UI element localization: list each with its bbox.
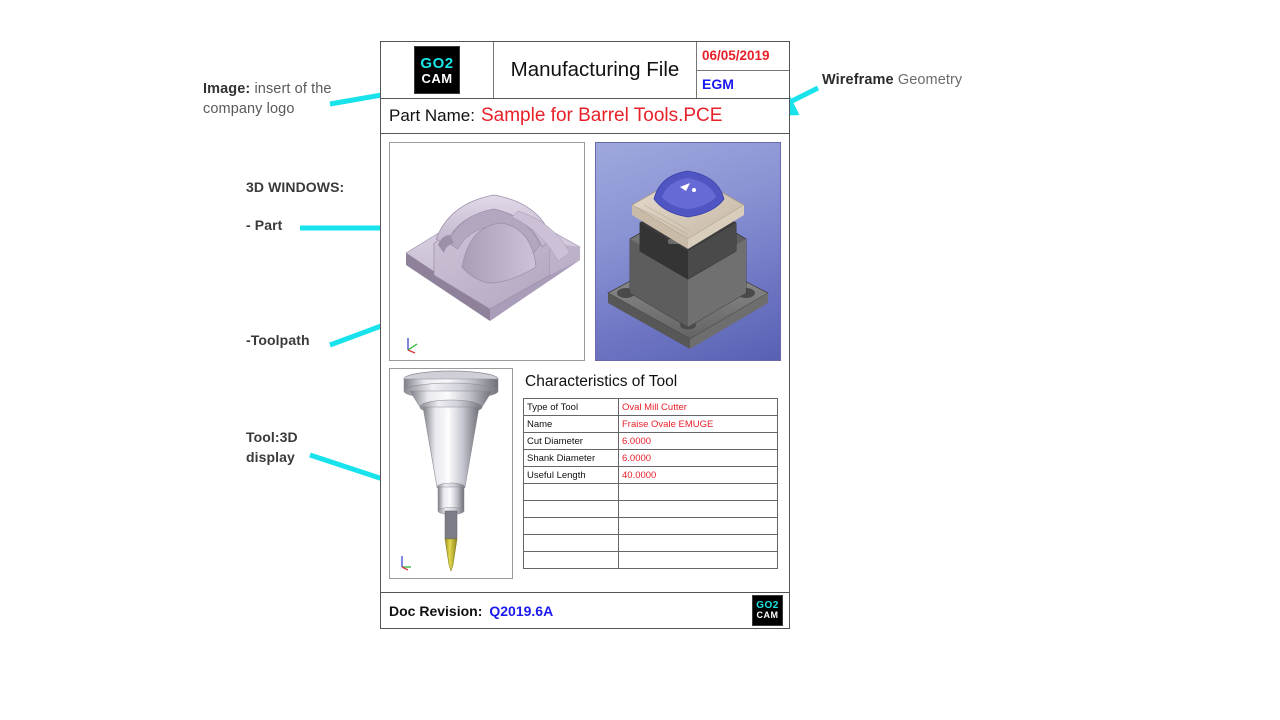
part-name-value: Sample for Barrel Tools.PCE — [481, 105, 722, 127]
annotation-tool-display: Tool:3D display — [246, 427, 356, 468]
row-key — [524, 535, 619, 552]
part-name-label: Part Name: — [389, 106, 475, 126]
views-row — [389, 142, 781, 361]
row-key: Name — [524, 416, 619, 433]
annotation-wireframe-rest: Geometry — [894, 72, 963, 88]
tool-characteristics-title: Characteristics of Tool — [525, 373, 781, 391]
row-value: Oval Mill Cutter — [619, 399, 778, 416]
row-key — [524, 552, 619, 569]
tool-characteristics-table: Type of ToolOval Mill Cutter NameFraise … — [523, 398, 778, 569]
tool-geometry — [390, 369, 512, 578]
row-value — [619, 501, 778, 518]
annotation-wireframe: Wireframe Geometry — [822, 71, 962, 91]
logo-line-go2: GO2 — [420, 56, 453, 71]
table-row — [524, 501, 778, 518]
tool-row: Characteristics of Tool Type of ToolOval… — [389, 368, 781, 579]
annotation-wireframe-bold: Wireframe — [822, 72, 894, 88]
row-value — [619, 518, 778, 535]
row-key: Cut Diameter — [524, 433, 619, 450]
annotation-part: - Part — [246, 216, 282, 235]
row-key: Type of Tool — [524, 399, 619, 416]
header-title-cell: Manufacturing File — [494, 42, 697, 98]
axis-triad-icon — [402, 556, 411, 570]
document-footer: Doc Revision: Q2019.6A GO2 CAM — [381, 592, 789, 628]
tool-characteristics-body: Type of ToolOval Mill Cutter NameFraise … — [524, 399, 778, 569]
manufacturing-file-document: GO2 CAM Manufacturing File 06/05/2019 EG… — [380, 41, 790, 629]
go2cam-logo-footer: GO2 CAM — [752, 595, 783, 626]
annotation-tool-display-line2: display — [246, 449, 295, 465]
row-key — [524, 501, 619, 518]
header-logo-cell: GO2 CAM — [381, 42, 494, 98]
annotation-toolpath: -Toolpath — [246, 331, 310, 350]
table-row — [524, 552, 778, 569]
table-row: Useful Length40.0000 — [524, 467, 778, 484]
row-value — [619, 552, 778, 569]
row-key — [524, 518, 619, 535]
row-key: Shank Diameter — [524, 450, 619, 467]
3d-setup-toolpath-view[interactable] — [595, 142, 781, 361]
part-name-row: Part Name: Sample for Barrel Tools.PCE — [381, 99, 789, 134]
axis-triad-icon — [408, 338, 417, 353]
table-row: Cut Diameter6.0000 — [524, 433, 778, 450]
table-row: NameFraise Ovale EMUGE — [524, 416, 778, 433]
3d-tool-view[interactable] — [389, 368, 513, 579]
table-row: Shank Diameter6.0000 — [524, 450, 778, 467]
row-value — [619, 535, 778, 552]
row-key — [524, 484, 619, 501]
part-geometry — [390, 143, 584, 360]
header-meta-cell: 06/05/2019 EGM — [697, 42, 789, 98]
document-author: EGM — [697, 71, 789, 99]
arrow-wireframe — [788, 88, 818, 103]
annotation-image-logo: Image: insert of the company logo — [203, 80, 373, 119]
annotation-tool-display-line1: Tool:3D — [246, 429, 298, 445]
row-value: 40.0000 — [619, 467, 778, 484]
document-title: Manufacturing File — [511, 58, 680, 82]
row-value: 6.0000 — [619, 450, 778, 467]
logo-line-cam: CAM — [421, 72, 452, 85]
table-row — [524, 535, 778, 552]
table-row: Type of ToolOval Mill Cutter — [524, 399, 778, 416]
3d-part-view[interactable] — [389, 142, 585, 361]
doc-revision-label: Doc Revision: — [389, 603, 482, 619]
document-body: Characteristics of Tool Type of ToolOval… — [381, 134, 789, 587]
row-value: Fraise Ovale EMUGE — [619, 416, 778, 433]
row-value: 6.0000 — [619, 433, 778, 450]
row-key: Useful Length — [524, 467, 619, 484]
annotation-3d-windows-heading: 3D WINDOWS: — [246, 178, 344, 197]
doc-revision-value: Q2019.6A — [489, 603, 553, 619]
go2cam-logo: GO2 CAM — [414, 46, 460, 94]
table-row — [524, 518, 778, 535]
page-canvas: Image: insert of the company logo Wirefr… — [0, 0, 1280, 720]
document-date: 06/05/2019 — [697, 42, 789, 71]
table-row — [524, 484, 778, 501]
setup-geometry — [596, 143, 779, 359]
logo-line-cam: CAM — [757, 611, 779, 620]
row-value — [619, 484, 778, 501]
tool-characteristics-panel: Characteristics of Tool Type of ToolOval… — [523, 368, 781, 579]
document-header: GO2 CAM Manufacturing File 06/05/2019 EG… — [381, 42, 789, 99]
annotation-image-logo-bold: Image: — [203, 81, 250, 97]
